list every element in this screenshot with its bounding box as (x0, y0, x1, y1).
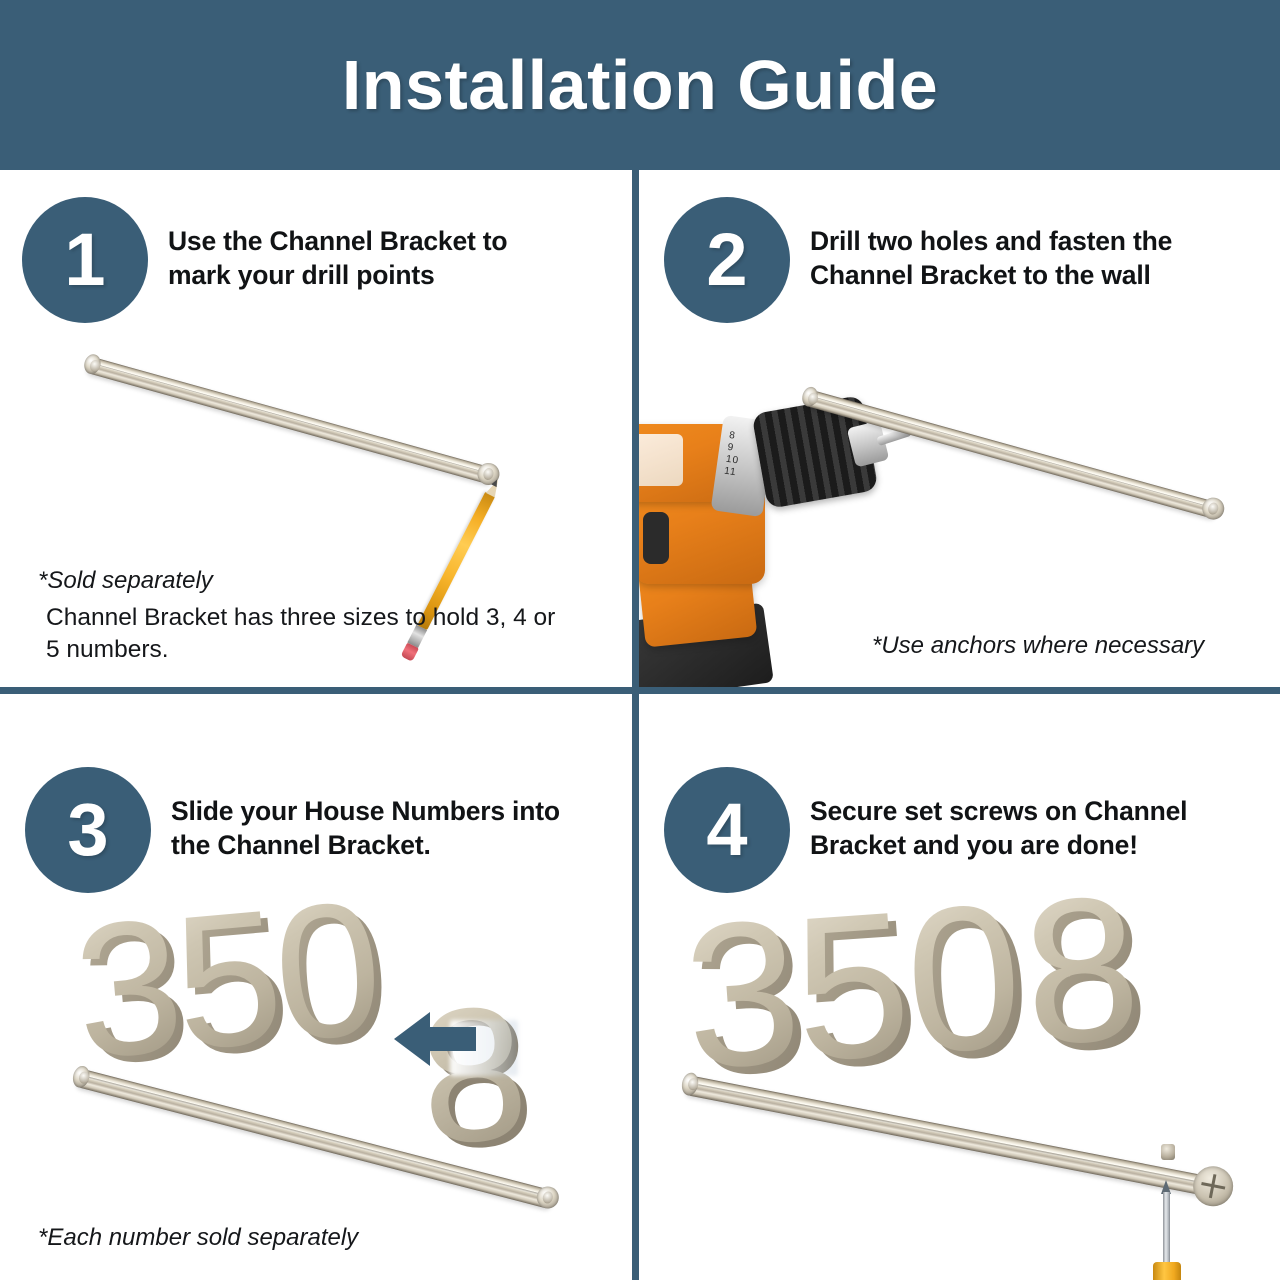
horizontal-divider (0, 687, 1280, 694)
step-panel-1: 1 Use the Channel Bracket to mark your d… (0, 170, 632, 687)
step-1-note-italic: *Sold separately (38, 565, 213, 596)
installation-guide-page: Installation Guide 1 Use the Channel Bra… (0, 0, 1280, 1280)
step-2-illustration: 891011 (639, 170, 1280, 687)
step-2-note-italic: *Use anchors where necessary (872, 630, 1204, 661)
step-3-illustration: 3 5 0 3 5 0 (0, 694, 632, 1280)
vertical-divider (632, 170, 639, 1280)
bracket-set-screw-head (1190, 1163, 1237, 1210)
step-panel-3: 3 Slide your House Numbers into the Chan… (0, 694, 632, 1280)
set-screw-icon (1161, 1144, 1175, 1160)
svg-text:5: 5 (787, 884, 917, 1105)
drill-trigger (643, 512, 669, 564)
screwdriver-handle (1153, 1262, 1181, 1280)
step-3-note-italic: *Each number sold separately (38, 1222, 358, 1253)
channel-bracket-rail (86, 356, 495, 485)
arrow-left-icon (390, 1004, 480, 1074)
step-1-note-plain: Channel Bracket has three sizes to hold … (46, 602, 566, 667)
svg-text:8: 8 (1017, 884, 1147, 1089)
channel-bracket (84, 351, 497, 492)
page-title: Installation Guide (342, 50, 938, 120)
svg-text:0: 0 (266, 890, 390, 1082)
phillips-screwdriver-icon (1147, 1180, 1187, 1280)
step-panel-4: 4 Secure set screws on Channel Bracket a… (639, 694, 1280, 1280)
drill-label (639, 434, 683, 486)
step-panel-2: 2 Drill two holes and fasten the Channel… (639, 170, 1280, 687)
screwdriver-shaft (1163, 1192, 1170, 1264)
svg-text:0: 0 (899, 884, 1029, 1097)
channel-bracket-groove (96, 364, 485, 473)
page-header: Installation Guide (0, 0, 1280, 170)
step-4-illustration: 3 5 0 8 3 5 0 8 (639, 694, 1280, 1280)
